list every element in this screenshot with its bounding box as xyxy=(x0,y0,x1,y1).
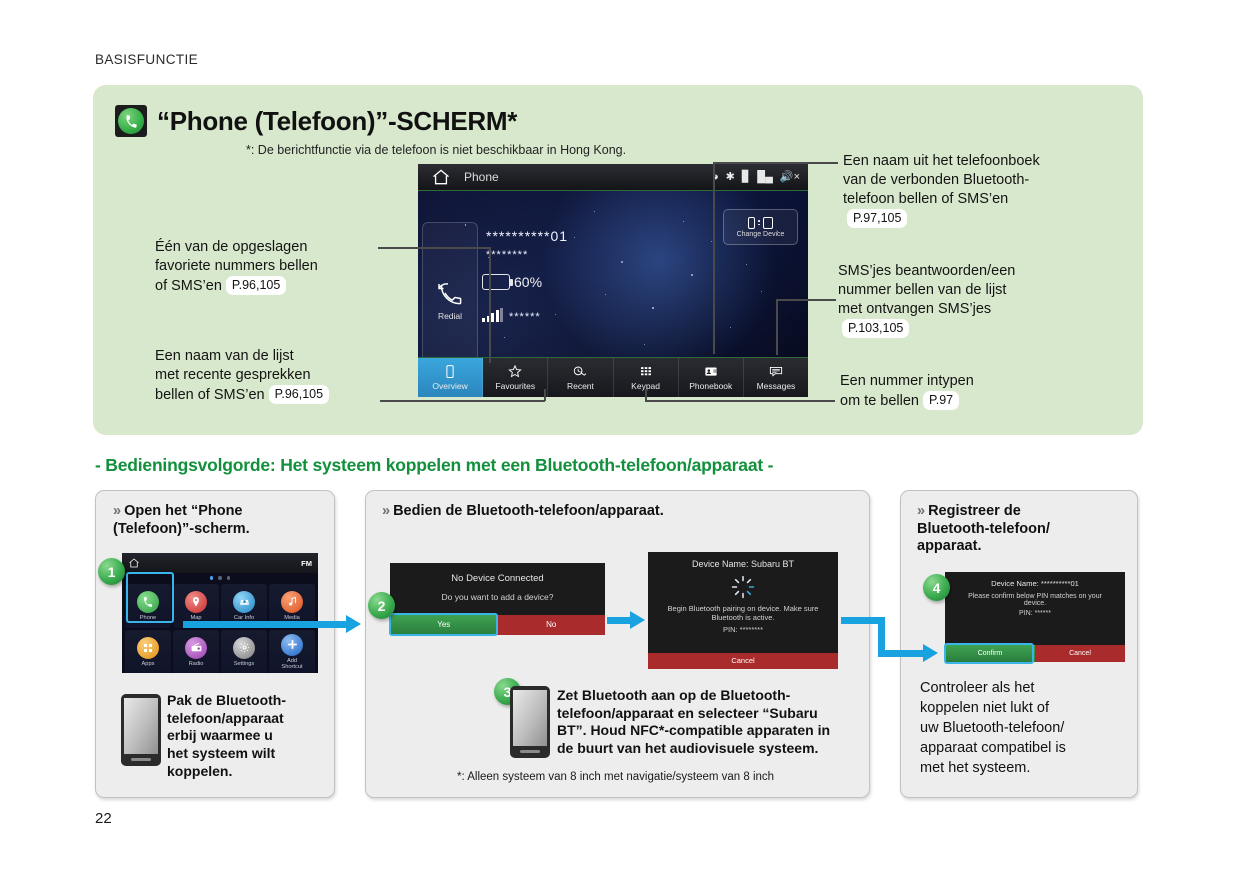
app-tile-radio-label: Radio xyxy=(189,661,204,667)
leader-line xyxy=(378,247,490,249)
step2-footnote: *: Alleen systeem van 8 inch met navigat… xyxy=(457,771,774,783)
page-number: 22 xyxy=(95,810,112,827)
contact-card-icon: @ xyxy=(703,364,719,379)
step2-heading-text: Bedien de Bluetooth-telefoon/apparaat. xyxy=(393,503,664,519)
head-unit-title: Phone xyxy=(464,170,499,184)
leader-line xyxy=(544,389,546,401)
cancel-button[interactable]: Cancel xyxy=(1035,645,1125,662)
dialog2-text-line2: Bluetooth is active. xyxy=(648,613,838,622)
app-tile-carinfo-label: Car Info xyxy=(234,615,254,621)
radio-icon xyxy=(185,637,207,659)
two-devices-icon xyxy=(748,217,773,229)
tab-favourites[interactable]: Favourites xyxy=(483,358,548,397)
cancel-button[interactable]: Cancel xyxy=(648,653,838,669)
home-icon xyxy=(128,557,140,569)
battery-percent: 60% xyxy=(514,274,542,290)
callout-favourites: Één van de opgeslagen favoriete nummers … xyxy=(155,238,390,296)
panel-footnote: *: De berichtfunctie via de telefoon is … xyxy=(246,143,626,157)
flow-arrow-1-head xyxy=(346,615,361,633)
dialog3-title: Device Name: **********01 xyxy=(945,579,1125,588)
tab-recent[interactable]: Recent xyxy=(548,358,613,397)
home-icon[interactable] xyxy=(418,167,464,187)
dialog3-text-line1: Please confirm below PIN matches on your xyxy=(945,593,1125,600)
app-tile-settings-label: Settings xyxy=(234,661,255,667)
callout-phonebook: Een naam uit het telefoonboek van de ver… xyxy=(843,152,1103,230)
redial-label: Redial xyxy=(438,311,462,321)
step1-heading-text: Open het “Phone (Telefoon)”-scherm. xyxy=(113,503,250,537)
app-tile-radio[interactable]: Radio xyxy=(173,630,219,674)
phone-tile-highlight xyxy=(126,572,174,623)
no-button[interactable]: No xyxy=(498,615,606,635)
leader-line xyxy=(489,247,491,363)
flow-arrow-3-head xyxy=(923,644,938,662)
mute-icon: 🔊× xyxy=(780,172,800,183)
step1-heading: »Open het “Phone (Telefoon)”-scherm. xyxy=(113,503,323,538)
head-unit-screen: Phone ◕ ✱ ▊ █▄ 🔊× Redial **********01 **… xyxy=(418,164,808,397)
phone-number-primary: **********01 xyxy=(486,228,568,244)
breadcrumb: BASISFUNCTIE xyxy=(95,52,198,67)
phone-handset-icon xyxy=(115,105,147,137)
step4-note: Controleer als het koppelen niet lukt of… xyxy=(920,678,1135,778)
leader-line xyxy=(645,400,835,402)
tab-favourites-label: Favourites xyxy=(495,381,535,391)
apps-grid-icon xyxy=(137,637,159,659)
dialog2-title: Device Name: Subaru BT xyxy=(648,559,838,569)
step4-heading-text: Registreer de Bluetooth-telefoon/ appara… xyxy=(917,503,1050,554)
signal-icon xyxy=(482,308,503,322)
step3-note: Zet Bluetooth aan op de Bluetooth- telef… xyxy=(557,687,867,758)
tab-messages[interactable]: Messages xyxy=(744,358,808,397)
dialog2-pin: PIN: ******** xyxy=(648,625,838,634)
flow-arrow-3-seg3 xyxy=(878,650,923,657)
map-pin-icon xyxy=(185,591,207,613)
leader-line xyxy=(645,389,647,401)
status-icon-group: ◕ ✱ ▊ █▄ 🔊× xyxy=(712,164,804,191)
chevron-icon: » xyxy=(113,503,121,519)
leader-line xyxy=(713,162,715,354)
dialog3-pin: PIN: ****** xyxy=(945,610,1125,617)
flow-arrow-2-line xyxy=(607,617,630,624)
keypad-grid-icon xyxy=(638,364,654,379)
car-info-icon xyxy=(233,591,255,613)
recent-call-icon xyxy=(572,364,588,379)
phone-number-secondary: ******** xyxy=(486,249,528,261)
svg-text:@: @ xyxy=(713,368,718,373)
fm-label: FM xyxy=(301,559,312,568)
step-badge-1: 1 xyxy=(98,558,125,585)
signal-icon: █▄ xyxy=(757,172,773,183)
app-tile-apps[interactable]: Apps xyxy=(125,630,171,674)
callout-recent: Een naam van de lijst met recente gespre… xyxy=(155,347,390,405)
page-ref: P.97 xyxy=(923,391,959,410)
battery-indicator: 60% xyxy=(482,274,542,290)
leader-line xyxy=(776,299,836,301)
step-badge-4: 4 xyxy=(923,574,950,601)
dialog3-text-line2: device. xyxy=(945,600,1125,607)
battery-icon: ▊ xyxy=(742,172,750,183)
app-tile-add-shortcut-label: Add Shortcut xyxy=(281,658,302,670)
phone-outline-icon xyxy=(442,364,458,379)
dialog1-title: No Device Connected xyxy=(390,573,605,584)
page-ref: P.96,105 xyxy=(226,276,286,295)
page-ref: P.97,105 xyxy=(847,209,907,228)
app-tile-media-label: Media xyxy=(284,615,300,621)
leader-line xyxy=(776,299,778,355)
panel-title-row: “Phone (Telefoon)”-SCHERM* xyxy=(115,105,517,137)
app-tile-add-shortcut[interactable]: Add Shortcut xyxy=(269,630,315,674)
dialog1-text: Do you want to add a device? xyxy=(390,592,605,602)
dialog-confirm-pin: Device Name: **********01 Please confirm… xyxy=(945,572,1125,645)
step1-note: Pak de Bluetooth- telefoon/apparaat erbi… xyxy=(167,692,327,780)
signal-indicator: ****** xyxy=(482,308,541,322)
signal-number: ****** xyxy=(509,311,541,323)
redial-icon xyxy=(436,281,464,307)
handset-glyph xyxy=(123,113,140,130)
media-note-icon xyxy=(281,591,303,613)
tab-messages-label: Messages xyxy=(757,381,796,391)
change-device-button[interactable]: Change Device xyxy=(723,209,798,245)
dialog2-text-line1: Begin Bluetooth pairing on device. Make … xyxy=(648,604,838,613)
head-unit-status-bar: Phone ◕ ✱ ▊ █▄ 🔊× xyxy=(418,164,808,191)
confirm-button-highlight xyxy=(944,643,1034,664)
step4-heading: »Registreer de Bluetooth-telefoon/ appar… xyxy=(917,503,1132,556)
page-ref: P.96,105 xyxy=(269,385,329,404)
app-tile-apps-label: Apps xyxy=(142,661,155,667)
bluetooth-icon: ✱ xyxy=(726,172,735,183)
chevron-icon: » xyxy=(382,503,390,519)
callout-messages-text: SMS’jes beantwoorden/een nummer bellen v… xyxy=(838,263,1015,317)
tab-recent-label: Recent xyxy=(567,381,594,391)
head-unit-tab-bar: Overview Favourites Recent Keypad @ Phon… xyxy=(418,357,808,397)
callout-keypad: Een nummer intypen om te bellenP.97 xyxy=(840,372,1090,411)
tab-phonebook[interactable]: @ Phonebook xyxy=(679,358,744,397)
flow-arrow-2-head xyxy=(630,611,645,629)
step2-heading: »Bedien de Bluetooth-telefoon/apparaat. xyxy=(382,503,852,521)
page-ref: P.103,105 xyxy=(842,319,909,338)
step-badge-2: 2 xyxy=(368,592,395,619)
leader-line xyxy=(713,162,838,164)
chevron-icon: » xyxy=(917,503,925,519)
flow-arrow-1-line xyxy=(183,621,346,628)
app-tile-map-label: Map xyxy=(190,615,201,621)
dialog-pairing: Device Name: Subaru BT Begin Bluetooth p… xyxy=(648,552,838,669)
tab-phonebook-label: Phonebook xyxy=(689,381,732,391)
plus-icon xyxy=(281,634,303,656)
gear-icon xyxy=(233,637,255,659)
callout-messages: SMS’jes beantwoorden/een nummer bellen v… xyxy=(838,262,1088,340)
star-icon xyxy=(507,364,523,379)
message-lines-icon xyxy=(768,364,784,379)
yes-button-highlight xyxy=(389,613,498,636)
battery-icon xyxy=(482,274,510,290)
head-unit-content: Redial **********01 ******** 60% ****** … xyxy=(418,191,808,357)
phone-illustration-1 xyxy=(121,694,161,766)
phone-illustration-2 xyxy=(510,686,550,758)
section-heading: - Bedieningsvolgorde: Het systeem koppel… xyxy=(95,455,773,476)
spinner-icon xyxy=(648,574,838,600)
mini-status-bar: FM xyxy=(122,553,318,573)
leader-line xyxy=(380,400,545,402)
app-tile-settings[interactable]: Settings xyxy=(221,630,267,674)
tab-overview-label: Overview xyxy=(432,381,467,391)
page-title: “Phone (Telefoon)”-SCHERM* xyxy=(157,106,517,137)
callout-phonebook-text: Een naam uit het telefoonboek van de ver… xyxy=(843,153,1040,207)
tab-overview[interactable]: Overview xyxy=(418,358,483,397)
